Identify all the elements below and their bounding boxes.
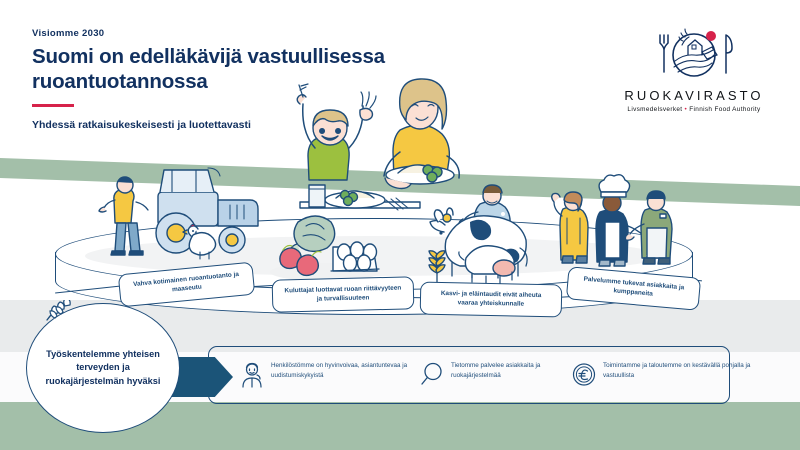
bottom-item-knowledge[interactable]: Tietomme palvelee asiakkaita ja ruokajär… (420, 361, 572, 393)
bottom-item-personnel[interactable]: Henkilöstömme on hyvinvoivaa, asiantunte… (240, 361, 420, 393)
bottom-bar-items: Henkilöstömme on hyvinvoivaa, asiantunte… (240, 357, 780, 397)
logo-tagline: Livsmedelsverket • Finnish Food Authorit… (614, 106, 774, 113)
page-title: Suomi on edelläkävijä vastuullisessa ruo… (32, 44, 502, 94)
logo: RUOKAVIRASTO Livsmedelsverket • Finnish … (614, 24, 774, 113)
euro-coin-icon (572, 362, 596, 393)
callout-plant-animal-disease[interactable]: Kasvi- ja eläintaudit eivät aiheuta vaar… (420, 282, 563, 318)
logo-tagline-en: Finnish Food Authority (689, 106, 760, 113)
header: Visiomme 2030 Suomi on edelläkävijä vast… (32, 28, 502, 131)
bottom-item-personnel-text: Henkilöstömme on hyvinvoivaa, asiantunte… (271, 361, 420, 381)
logo-mark-icon (614, 24, 774, 84)
mission-badge-text: Työskentelemme yhteisen terveyden ja ruo… (27, 348, 179, 388)
bottom-item-knowledge-text: Tietomme palvelee asiakkaita ja ruokajär… (451, 361, 572, 381)
logo-tagline-sv: Livsmedelsverket (627, 106, 682, 113)
page-subtitle: Yhdessä ratkaisukeskeisesti ja luotettav… (32, 119, 502, 131)
logo-tagline-separator: • (685, 106, 688, 113)
magnifier-icon (420, 362, 444, 393)
wheat-icon (44, 300, 78, 331)
bottom-item-economy[interactable]: Toimintamme ja taloutemme on kestävällä … (572, 361, 762, 393)
person-icon (240, 362, 264, 393)
bottom-item-economy-text: Toimintamme ja taloutemme on kestävällä … (603, 361, 762, 381)
infographic-stage: Visiomme 2030 Suomi on edelläkävijä vast… (0, 0, 800, 450)
callout-consumer-trust[interactable]: Kuluttajat luottavat ruoan riittävyyteen… (272, 276, 415, 312)
eyebrow-label: Visiomme 2030 (32, 28, 502, 39)
title-underline-rule (32, 104, 74, 107)
logo-wordmark: RUOKAVIRASTO (614, 88, 774, 103)
